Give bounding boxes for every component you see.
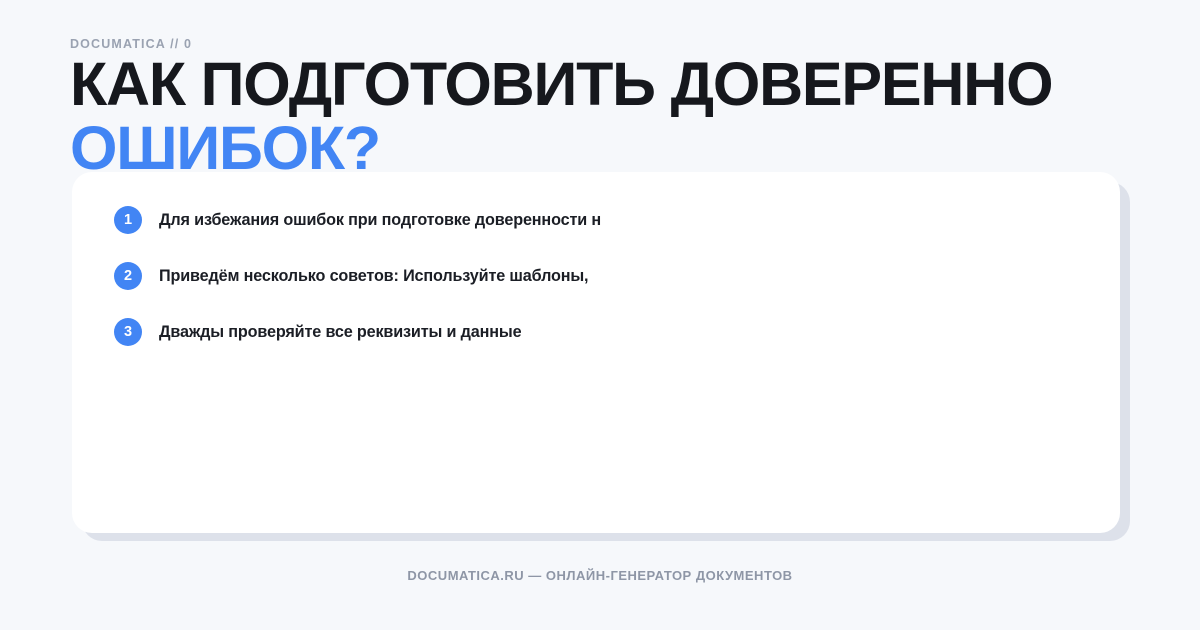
list-item-number-badge: 1 bbox=[114, 206, 142, 234]
list-item-number-badge: 2 bbox=[114, 262, 142, 290]
page-title-line-2: ОШИБОК? bbox=[70, 120, 1150, 178]
slide-canvas: DOCUMATICA // 0 КАК ПОДГОТОВИТЬ ДОВЕРЕНН… bbox=[0, 0, 1200, 630]
list-item-number-badge: 3 bbox=[114, 318, 142, 346]
list-item: 1 Для избежания ошибок при подготовке до… bbox=[114, 206, 1080, 234]
list-item: 2 Приведём несколько советов: Используйт… bbox=[114, 262, 1080, 290]
list-item: 3 Дважды проверяйте все реквизиты и данн… bbox=[114, 318, 1080, 346]
list-item-label: Для избежания ошибок при подготовке дове… bbox=[159, 211, 601, 230]
page-title: КАК ПОДГОТОВИТЬ ДОВЕРЕННО ОШИБОК? bbox=[70, 56, 1150, 178]
tips-list: 1 Для избежания ошибок при подготовке до… bbox=[114, 206, 1080, 346]
list-item-label: Приведём несколько советов: Используйте … bbox=[159, 267, 588, 286]
list-item-label: Дважды проверяйте все реквизиты и данные bbox=[159, 323, 521, 342]
brand-eyebrow: DOCUMATICA // 0 bbox=[70, 37, 192, 51]
content-card: 1 Для избежания ошибок при подготовке до… bbox=[72, 172, 1120, 533]
footer-attribution: DOCUMATICA.RU — ОНЛАЙН-ГЕНЕРАТОР ДОКУМЕН… bbox=[0, 568, 1200, 583]
page-title-line-1: КАК ПОДГОТОВИТЬ ДОВЕРЕННО bbox=[70, 56, 1150, 114]
